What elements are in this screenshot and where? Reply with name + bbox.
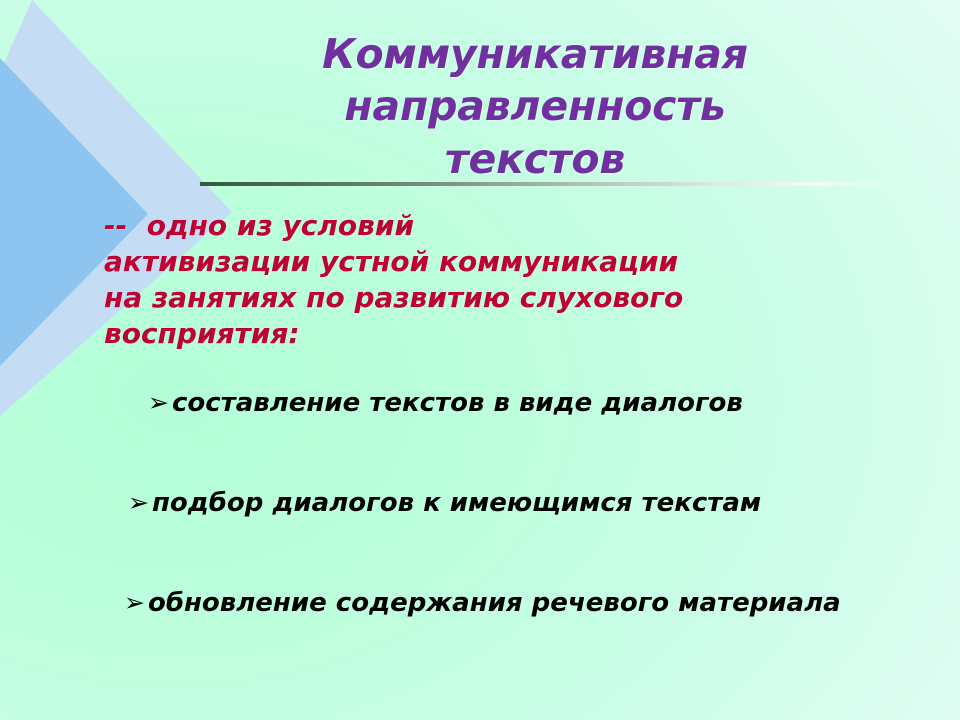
intro-line: активизации устной коммуникации [104,244,844,280]
title-line-1: Коммуникативная направленность [322,30,748,130]
list-item-label: составление текстов в виде диалогов [169,386,743,420]
list-item-label: подбор диалогов к имеющимся текстам [149,486,761,520]
arrow-bullet-icon: ➢ [148,386,169,420]
intro-line: восприятия: [104,316,844,352]
list-item-label: обновление содержания речевого материала [145,586,841,620]
intro-line: на занятиях по развитию слухового [104,280,844,316]
title-divider [200,182,906,186]
page-title: Коммуникативная направленностьтекстов [130,28,940,185]
arrow-bullet-icon: ➢ [128,486,149,520]
title-block: Коммуникативная направленностьтекстов [130,28,940,185]
title-line-2: текстов [445,135,625,183]
list-item: ➢ обновление содержания речевого материа… [0,586,960,686]
slide-canvas: Коммуникативная направленностьтекстов --… [0,0,960,720]
list-item: ➢ подбор диалогов к имеющимся текстам [0,486,960,586]
bullet-list: ➢ составление текстов в виде диалогов ➢ … [0,386,960,686]
intro-paragraph: -- одно из условий активизации устной ко… [104,208,844,352]
arrow-bullet-icon: ➢ [124,586,145,620]
intro-line: -- одно из условий [104,208,844,244]
list-item: ➢ составление текстов в виде диалогов [0,386,960,486]
